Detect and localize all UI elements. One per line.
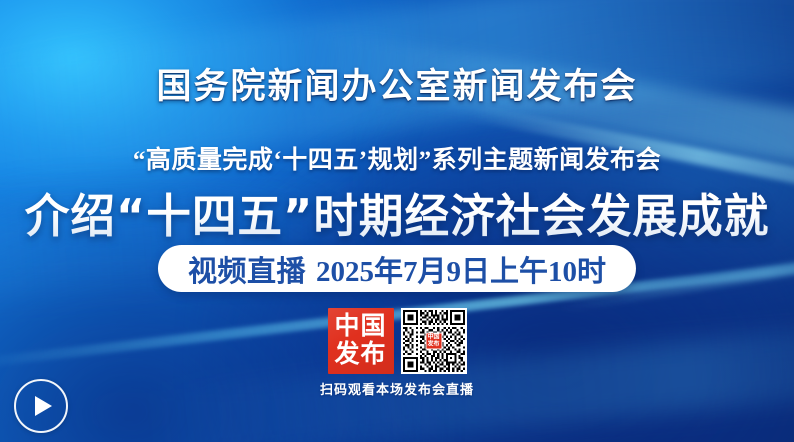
qr-center-line-2: 发布 — [427, 341, 439, 348]
page-title: 国务院新闻办公室新闻发布会 — [0, 58, 794, 109]
qr-center-line-1: 中国 — [427, 334, 439, 341]
logo-line-1: 中国 — [334, 313, 386, 341]
live-broadcast-poster: 国务院新闻办公室新闻发布会 “高质量完成‘十四五’规划”系列主题新闻发布会 介绍… — [0, 0, 794, 442]
qr-center-logo: 中国 发布 — [425, 333, 442, 350]
play-icon — [35, 396, 52, 416]
qr-code[interactable]: 中国 发布 — [400, 308, 466, 374]
qr-caption: 扫码观看本场发布会直播 — [320, 379, 474, 398]
china-release-logo: 中国 发布 — [327, 308, 393, 374]
live-badge-label: 视频直播 — [188, 248, 306, 290]
poster-subtitle: “高质量完成‘十四五’规划”系列主题新闻发布会 — [0, 140, 794, 176]
brand-qr-block: 中国 发布 — [320, 308, 474, 398]
poster-headline: 介绍“十四五”时期经济社会发展成就 — [12, 180, 782, 246]
play-button[interactable] — [14, 379, 68, 433]
live-schedule-badge: 视频直播 2025年7月9日上午10时 — [158, 245, 636, 292]
logo-line-2: 发布 — [334, 341, 386, 369]
live-badge-datetime: 2025年7月9日上午10时 — [316, 248, 606, 290]
brand-row: 中国 发布 — [327, 308, 466, 374]
poster-content: 国务院新闻办公室新闻发布会 “高质量完成‘十四五’规划”系列主题新闻发布会 介绍… — [0, 0, 794, 442]
